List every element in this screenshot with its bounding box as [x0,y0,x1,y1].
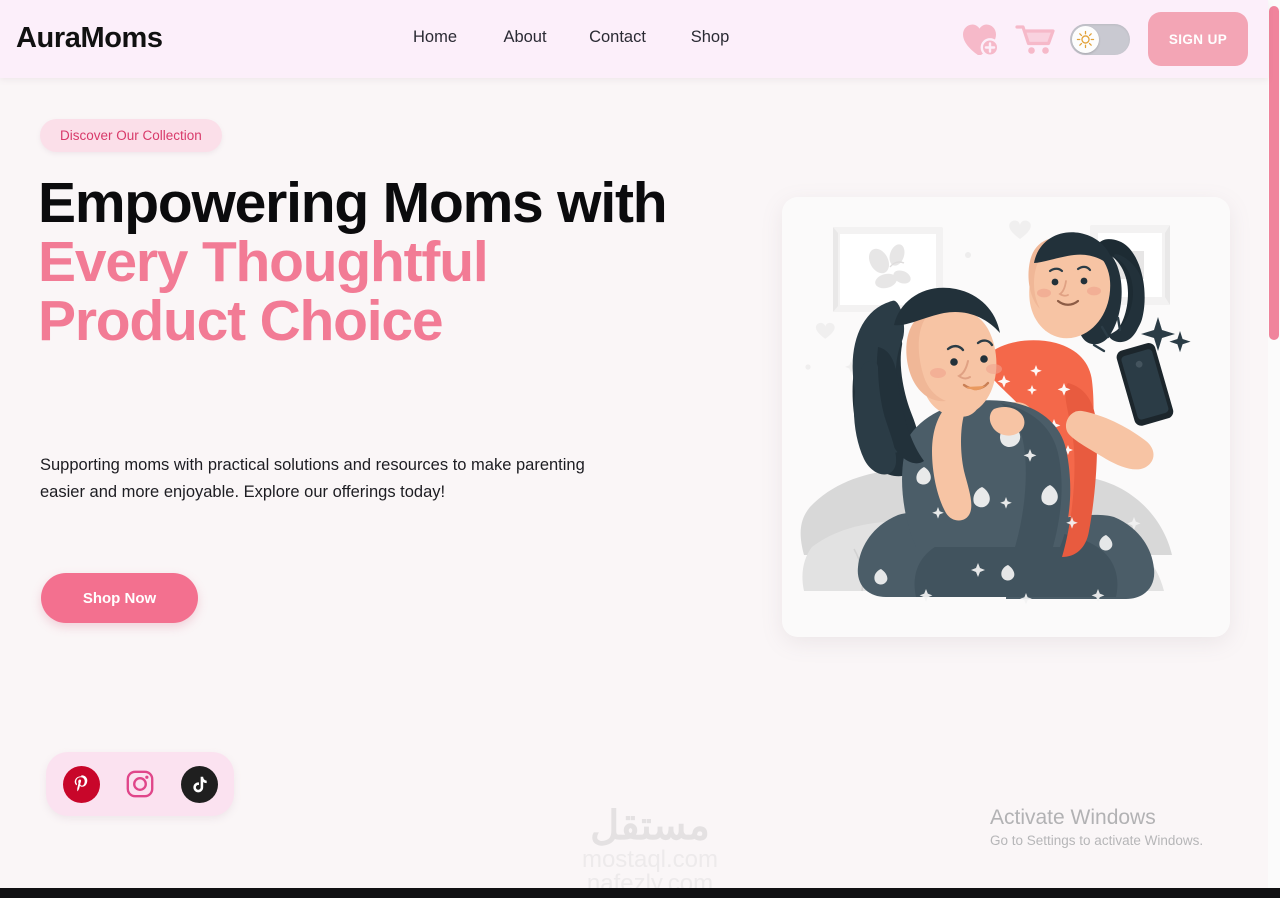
site-header: AuraMoms Home About Contact Shop [0,0,1268,78]
pinterest-icon[interactable] [63,766,100,803]
hero-illustration-card [782,197,1230,637]
hero-subtitle-line-2: easier and more enjoyable. Explore our o… [40,483,445,501]
hero-subtitle-line-1: Supporting moms with practical solutions… [40,456,585,474]
main-navigation: Home About Contact Shop [390,28,755,47]
shop-now-button[interactable]: Shop Now [41,573,198,623]
instagram-icon[interactable] [122,766,159,803]
theme-toggle[interactable] [1070,24,1130,55]
hero-title-line-3: Product Choice [38,292,678,351]
nav-item-contact[interactable]: Contact [570,28,665,47]
nav-item-shop[interactable]: Shop [665,28,755,47]
nav-item-home[interactable]: Home [390,28,480,47]
social-links-bar [46,752,234,816]
discover-collection-badge[interactable]: Discover Our Collection [40,119,222,152]
activation-subtitle: Go to Settings to activate Windows. [990,831,1203,851]
watermark-arabic: مستقل [540,806,760,846]
watermark-line-1: mostaql.com [540,848,760,872]
site-logo[interactable]: AuraMoms [16,22,163,55]
windows-activation-notice: Activate Windows Go to Settings to activ… [990,804,1203,851]
scrollbar-track[interactable] [1268,0,1280,890]
tiktok-icon[interactable] [181,766,218,803]
shopping-cart-icon[interactable] [1014,19,1056,59]
hero-subtitle: Supporting moms with practical solutions… [40,452,660,506]
page-title: Empowering Moms with Every Thoughtful Pr… [38,174,678,351]
bottom-bar [0,888,1280,898]
hero-title-line-1: Empowering Moms with [38,171,666,235]
nav-item-about[interactable]: About [480,28,570,47]
signup-button[interactable]: SIGN UP [1148,12,1248,66]
scrollbar-thumb[interactable] [1269,6,1279,340]
watermark: مستقل mostaql.com nafezly.com [540,806,760,896]
sun-icon [1076,30,1095,49]
heart-plus-icon[interactable] [960,19,1004,59]
activation-title: Activate Windows [990,804,1203,831]
page-root: AuraMoms Home About Contact Shop [0,0,1280,898]
mother-and-daughter-selfie-illustration [782,197,1230,637]
hero-title-line-2: Every Thoughtful [38,233,678,292]
header-actions: SIGN UP [960,0,1258,78]
theme-toggle-knob [1072,26,1099,53]
